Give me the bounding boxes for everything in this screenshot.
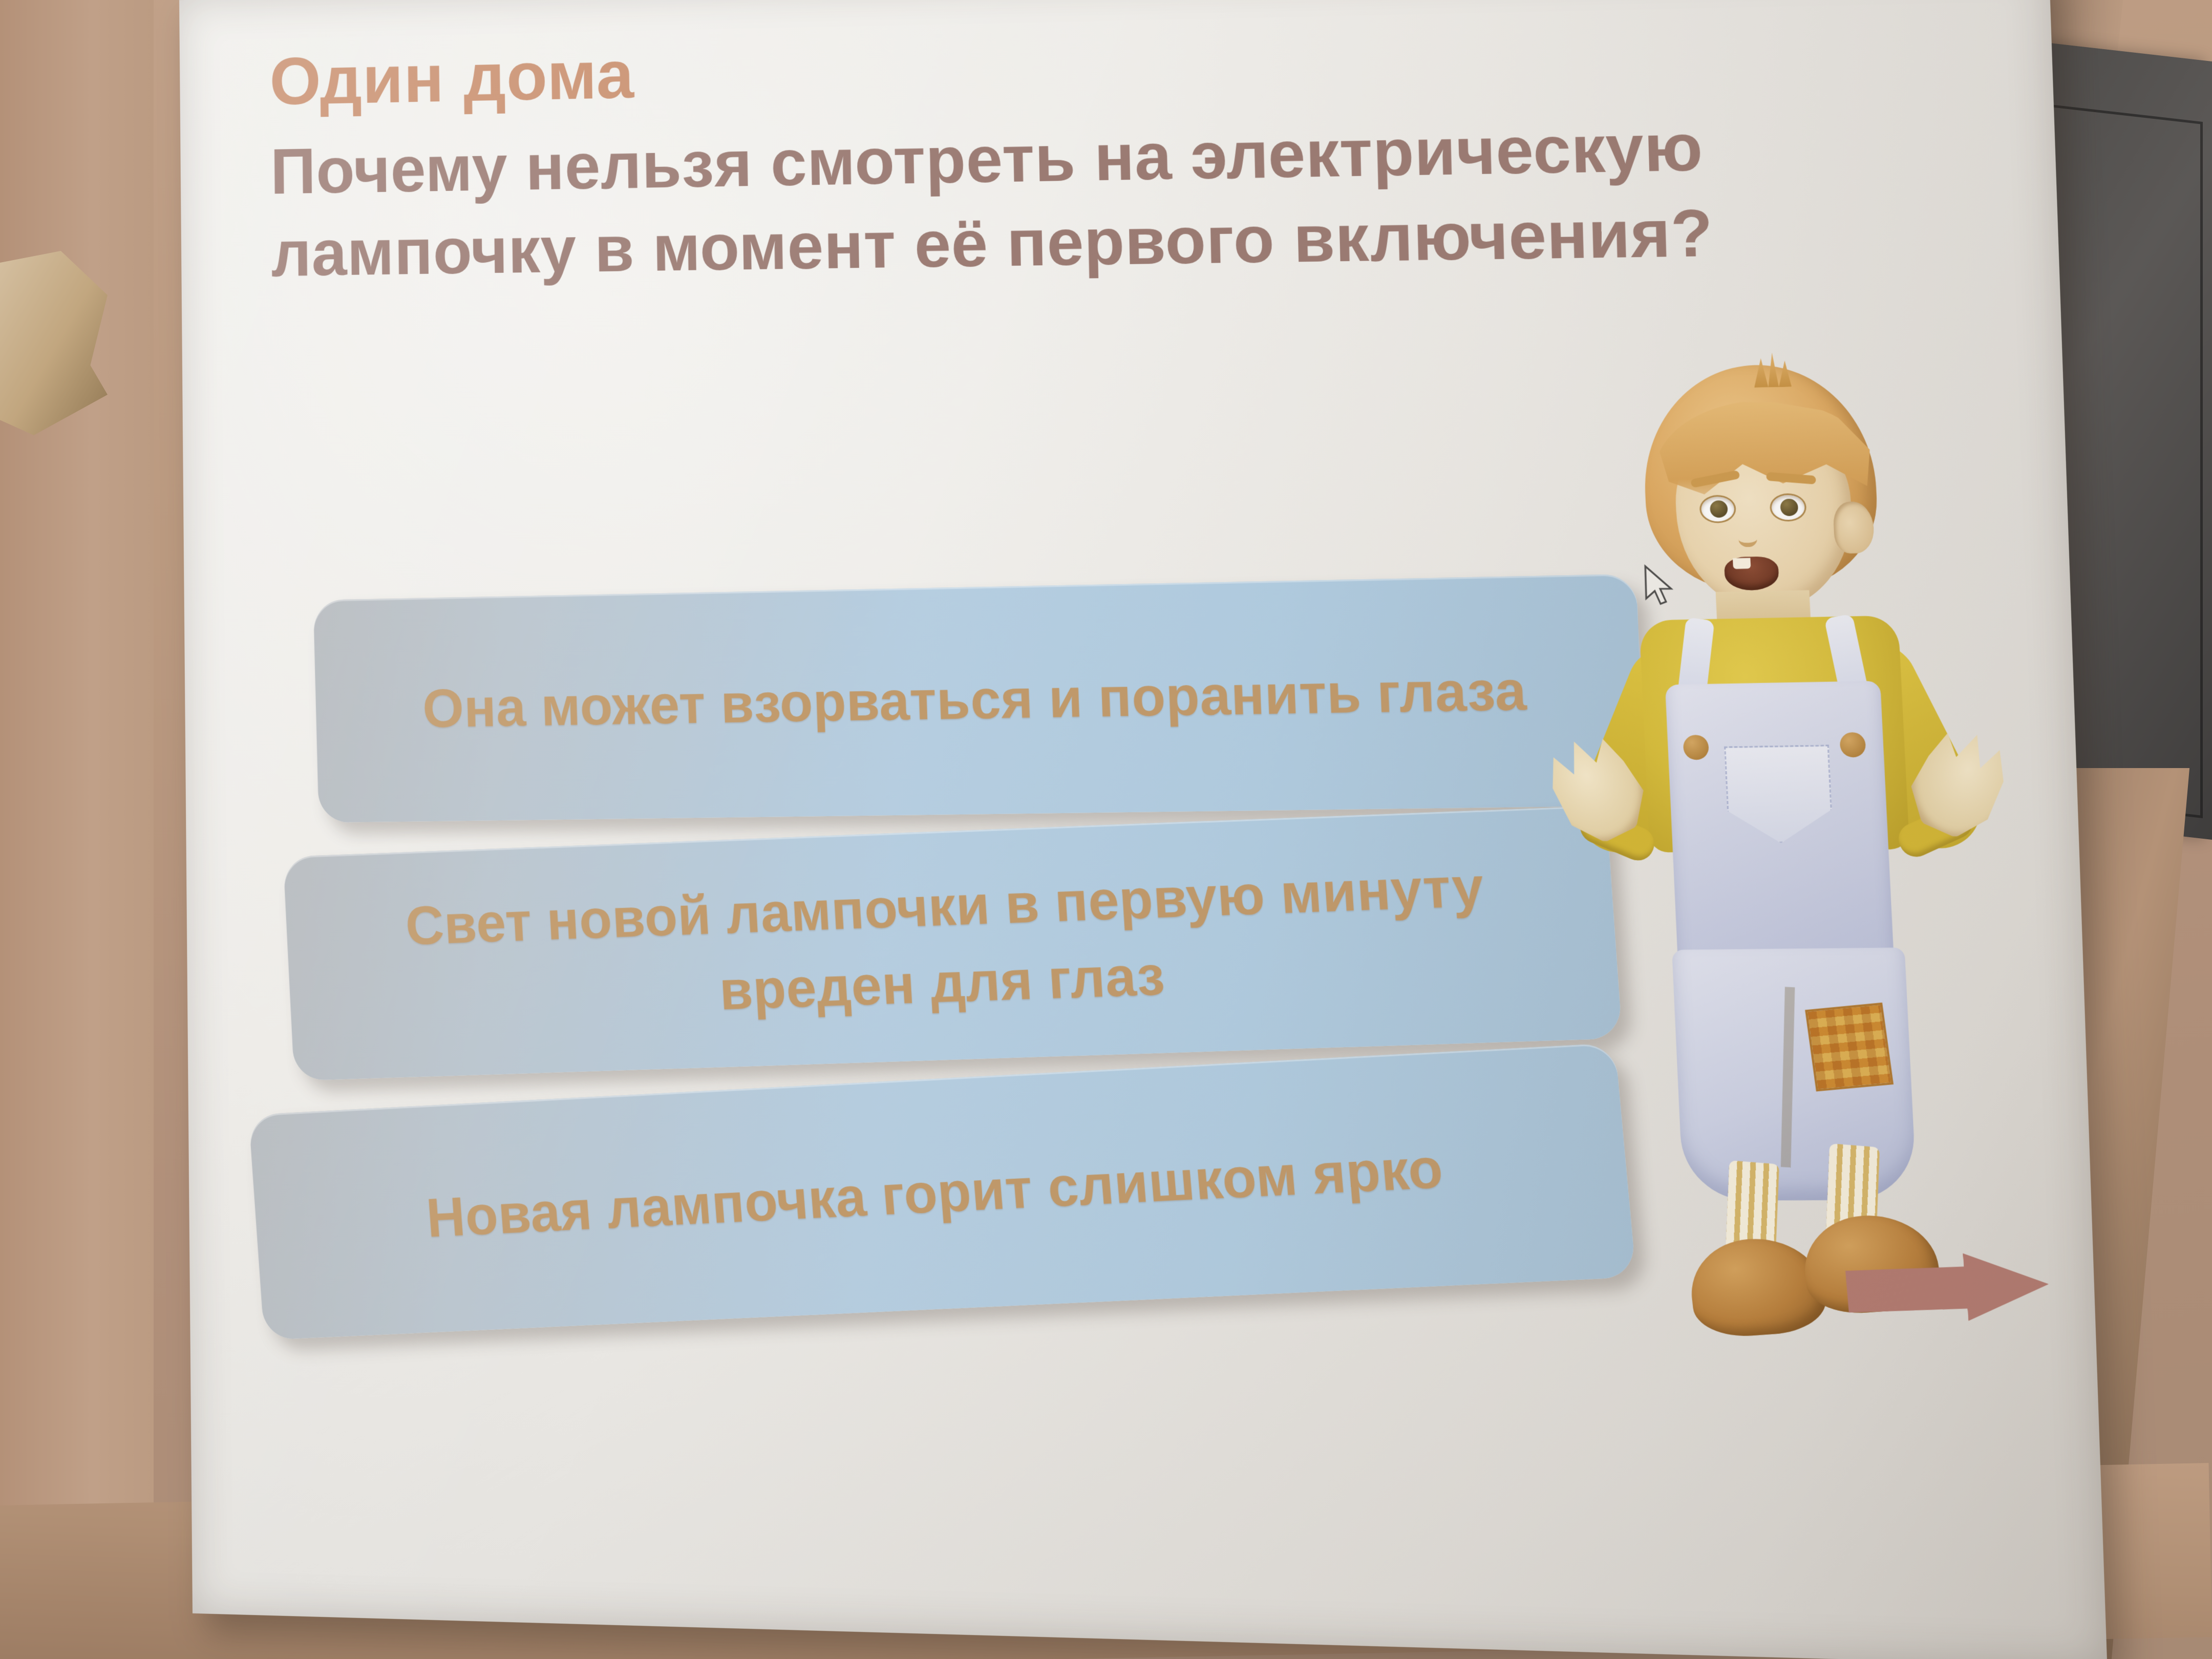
- answer-option-3[interactable]: Новая лампочка горит слишком ярко: [248, 1043, 1636, 1341]
- answer-option-3-label: Новая лампочка горит слишком ярко: [424, 1130, 1446, 1257]
- next-arrow-shaft: [1845, 1266, 1979, 1313]
- boy-pants-patch: [1805, 1003, 1894, 1092]
- slide-question: Почему нельзя смотреть на электрическую …: [270, 100, 1909, 295]
- answer-option-2-label: Свет новой лампочки в первую минуту вред…: [341, 846, 1560, 1041]
- projection-screen-wrapper: Один дома Почему нельзя смотреть на элек…: [0, 0, 2212, 1659]
- slide-title: Один дома: [269, 11, 1970, 117]
- projection-screen: Один дома Почему нельзя смотреть на элек…: [179, 0, 2107, 1659]
- presentation-slide: Один дома Почему нельзя смотреть на элек…: [179, 0, 2107, 1659]
- mouse-pointer-icon: [1643, 564, 1678, 611]
- answer-option-1[interactable]: Она может взорваться и поранить глаза: [313, 574, 1646, 823]
- next-arrow-icon[interactable]: [1843, 1237, 2053, 1338]
- answer-option-1-label: Она может взорваться и поранить глаза: [421, 653, 1528, 747]
- answer-options-list: Она может взорваться и поранить глаза Св…: [244, 585, 1782, 1344]
- answer-option-2[interactable]: Свет новой лампочки в первую минуту вред…: [283, 805, 1623, 1081]
- next-arrow-head: [1962, 1237, 2053, 1334]
- cartoon-boy-illustration: [1568, 353, 2039, 1393]
- boy-tooth: [1733, 558, 1751, 569]
